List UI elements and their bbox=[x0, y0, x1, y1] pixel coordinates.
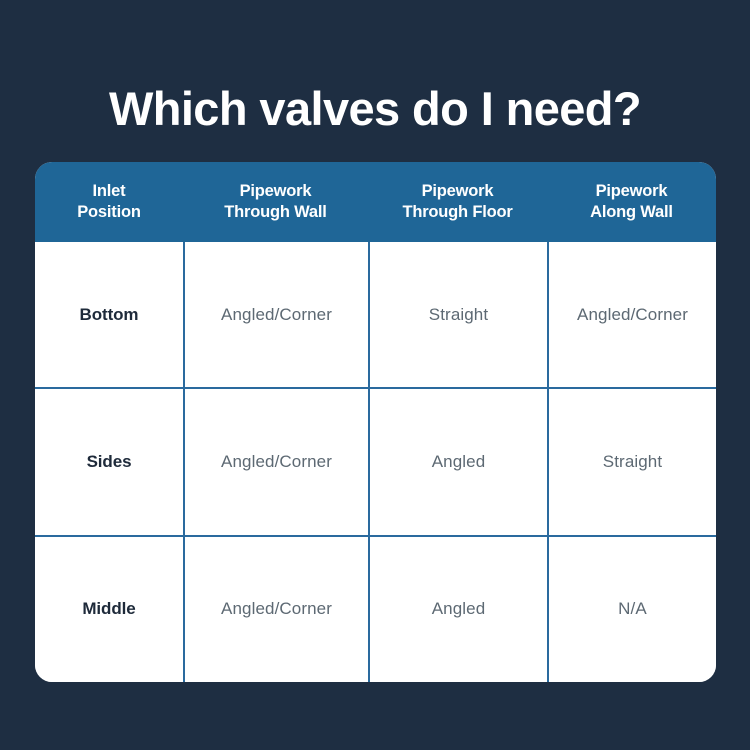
column-header-line1: Pipework bbox=[240, 182, 312, 200]
table-cell: Angled/Corner bbox=[183, 242, 368, 387]
column-header-line2: Along Wall bbox=[590, 203, 673, 221]
table-cell: Angled/Corner bbox=[547, 242, 716, 387]
column-header-pipework-through-wall: Pipework Through Wall bbox=[183, 162, 368, 242]
table-cell: Angled/Corner bbox=[183, 537, 368, 682]
column-header-pipework-through-floor: Pipework Through Floor bbox=[368, 162, 547, 242]
table-cell: Angled bbox=[368, 537, 547, 682]
table-cell: N/A bbox=[547, 537, 716, 682]
column-header-pipework-along-wall: Pipework Along Wall bbox=[547, 162, 716, 242]
page-title: Which valves do I need? bbox=[0, 83, 750, 135]
table-cell: Straight bbox=[368, 242, 547, 387]
row-label: Middle bbox=[35, 537, 183, 682]
row-label: Bottom bbox=[35, 242, 183, 387]
column-header-line1: Pipework bbox=[422, 182, 494, 200]
table-row: Bottom Angled/Corner Straight Angled/Cor… bbox=[35, 242, 716, 387]
column-header-line2: Through Wall bbox=[224, 203, 326, 221]
table-body: Bottom Angled/Corner Straight Angled/Cor… bbox=[35, 242, 716, 682]
table-cell: Straight bbox=[547, 389, 716, 534]
table-row: Middle Angled/Corner Angled N/A bbox=[35, 535, 716, 682]
table-cell: Angled/Corner bbox=[183, 389, 368, 534]
row-label: Sides bbox=[35, 389, 183, 534]
valve-selection-table: Inlet Position Pipework Through Wall Pip… bbox=[35, 162, 716, 682]
column-header-line1: Pipework bbox=[596, 182, 668, 200]
column-header-line2: Position bbox=[77, 203, 140, 221]
table-header-row: Inlet Position Pipework Through Wall Pip… bbox=[35, 162, 716, 242]
column-header-line1: Inlet bbox=[93, 182, 126, 200]
column-header-inlet-position: Inlet Position bbox=[35, 162, 183, 242]
table-row: Sides Angled/Corner Angled Straight bbox=[35, 387, 716, 534]
infographic-page: Which valves do I need? Inlet Position P… bbox=[0, 0, 750, 750]
column-header-line2: Through Floor bbox=[402, 203, 512, 221]
table-cell: Angled bbox=[368, 389, 547, 534]
